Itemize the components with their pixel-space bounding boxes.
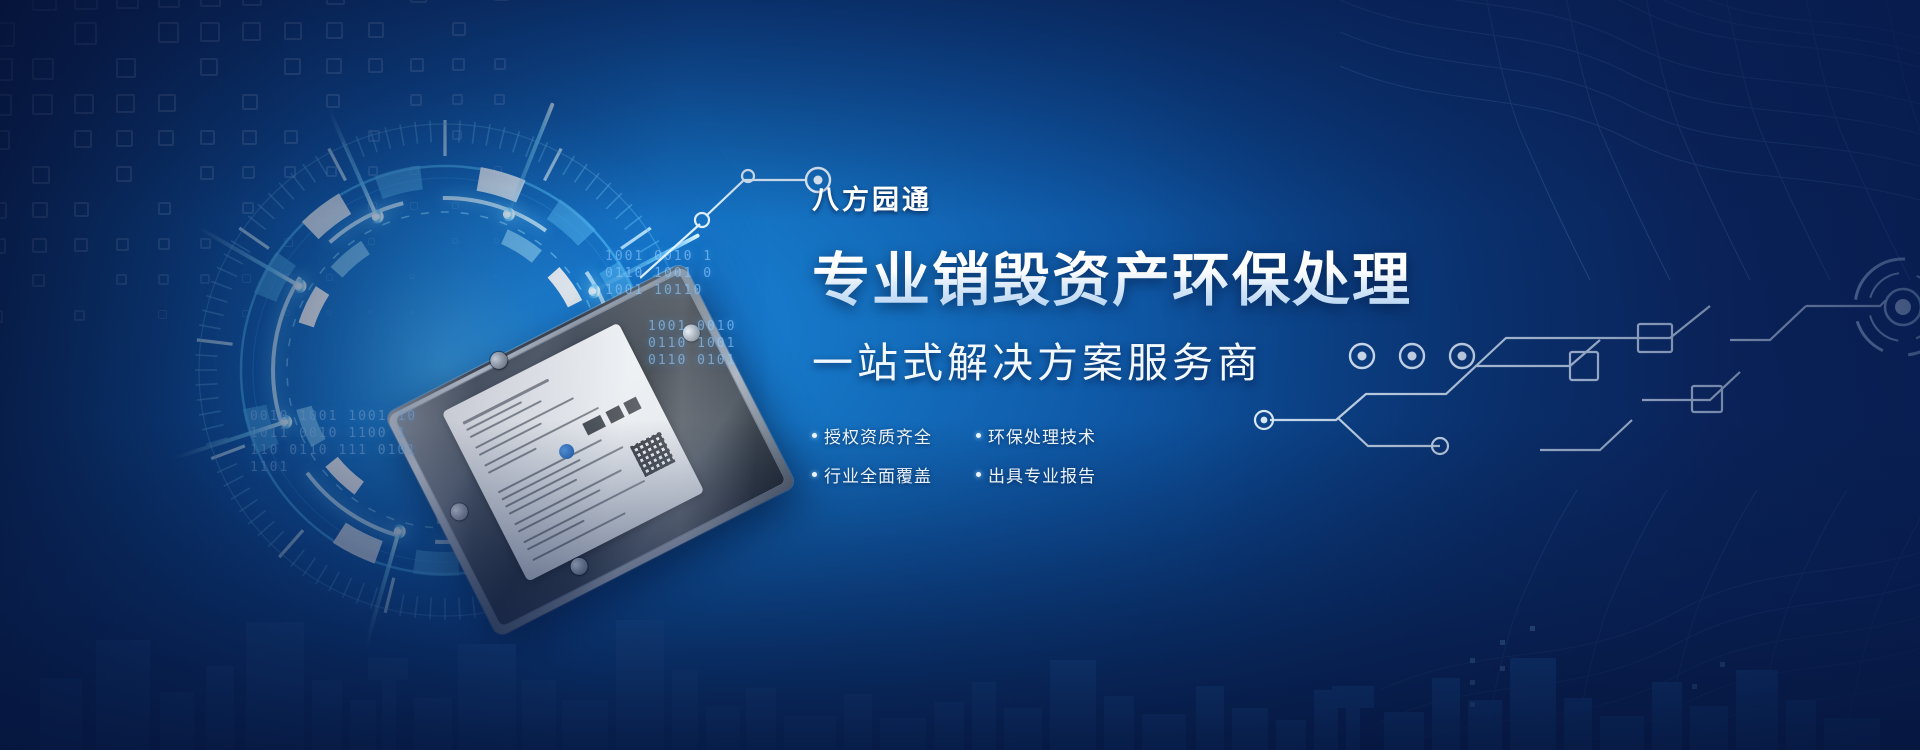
decorative-square xyxy=(32,238,47,253)
feature-bullet-label: 环保处理技术 xyxy=(988,423,1096,448)
city-skyline-silhouette xyxy=(0,530,1920,750)
decorative-square xyxy=(158,0,180,8)
decorative-square xyxy=(200,22,220,42)
decorative-square xyxy=(326,22,343,39)
decorative-square xyxy=(200,0,221,7)
decorative-square xyxy=(74,130,92,148)
decorative-square xyxy=(0,202,7,219)
decorative-square xyxy=(74,238,88,252)
certification-mark xyxy=(582,415,606,436)
label-print-line xyxy=(475,397,574,449)
feature-bullet: 出具专业报告 xyxy=(976,462,1126,487)
blue-marker-dot xyxy=(556,441,576,461)
decorative-square xyxy=(0,94,12,116)
label-print-line xyxy=(518,489,601,533)
decorative-square xyxy=(74,22,97,45)
feature-bullet: 环保处理技术 xyxy=(976,423,1126,448)
bullet-dot-icon xyxy=(812,433,817,438)
decorative-square xyxy=(242,22,261,41)
feature-bullet: 授权资质齐全 xyxy=(812,423,962,448)
promotional-banner: 1001 0010 1 0110 1001 0 1001 10110 0010 … xyxy=(0,0,1920,750)
decorative-square xyxy=(74,202,89,217)
feature-bullet-label: 授权资质齐全 xyxy=(824,423,932,448)
decorative-square xyxy=(284,22,302,40)
feature-bullet: 行业全面覆盖 xyxy=(812,462,962,487)
decorative-square xyxy=(242,0,262,6)
decorative-square xyxy=(368,22,384,38)
sub-headline: 一站式解决方案服务商 xyxy=(812,329,1512,389)
bullet-dot-icon xyxy=(976,472,981,477)
feature-bullet-label: 行业全面覆盖 xyxy=(824,462,932,487)
circular-tech-emblem-right xyxy=(1828,232,1920,382)
decorative-square xyxy=(0,22,15,47)
certification-mark xyxy=(623,397,641,415)
decorative-square xyxy=(32,0,57,11)
banner-copy-block: 八方园通 专业销毁资产环保处理 一站式解决方案服务商 授权资质齐全 环保处理技术… xyxy=(812,178,1512,487)
decorative-square xyxy=(158,22,179,43)
decorative-square xyxy=(0,238,6,254)
label-print-line xyxy=(484,407,599,467)
brand-name: 八方园通 xyxy=(812,178,1512,217)
decorative-square xyxy=(74,94,94,114)
decorative-square xyxy=(0,58,13,81)
decorative-square xyxy=(494,0,509,1)
decorative-square xyxy=(452,22,466,36)
decorative-square xyxy=(0,130,10,150)
decorative-square xyxy=(116,0,139,9)
decorative-square xyxy=(32,274,45,287)
decorative-square xyxy=(410,0,427,3)
decorative-square xyxy=(32,166,50,184)
qr-code-icon xyxy=(630,431,676,477)
decorative-square xyxy=(32,94,53,115)
bullet-dot-icon xyxy=(976,433,981,438)
headline: 专业销毁资产环保处理 xyxy=(812,233,1512,317)
feature-bullet-label: 出具专业报告 xyxy=(988,462,1096,487)
decorative-square xyxy=(32,58,54,80)
decorative-square xyxy=(0,310,3,323)
feature-bullet-list: 授权资质齐全 环保处理技术 行业全面覆盖 出具专业报告 xyxy=(812,423,1512,487)
label-print-line xyxy=(501,459,580,501)
bullet-dot-icon xyxy=(812,472,817,477)
label-print-line xyxy=(514,469,622,525)
decorative-square xyxy=(74,310,85,321)
decorative-square xyxy=(32,202,48,218)
decorative-square xyxy=(74,0,98,10)
certification-mark xyxy=(605,405,624,423)
decorative-square xyxy=(326,0,345,5)
